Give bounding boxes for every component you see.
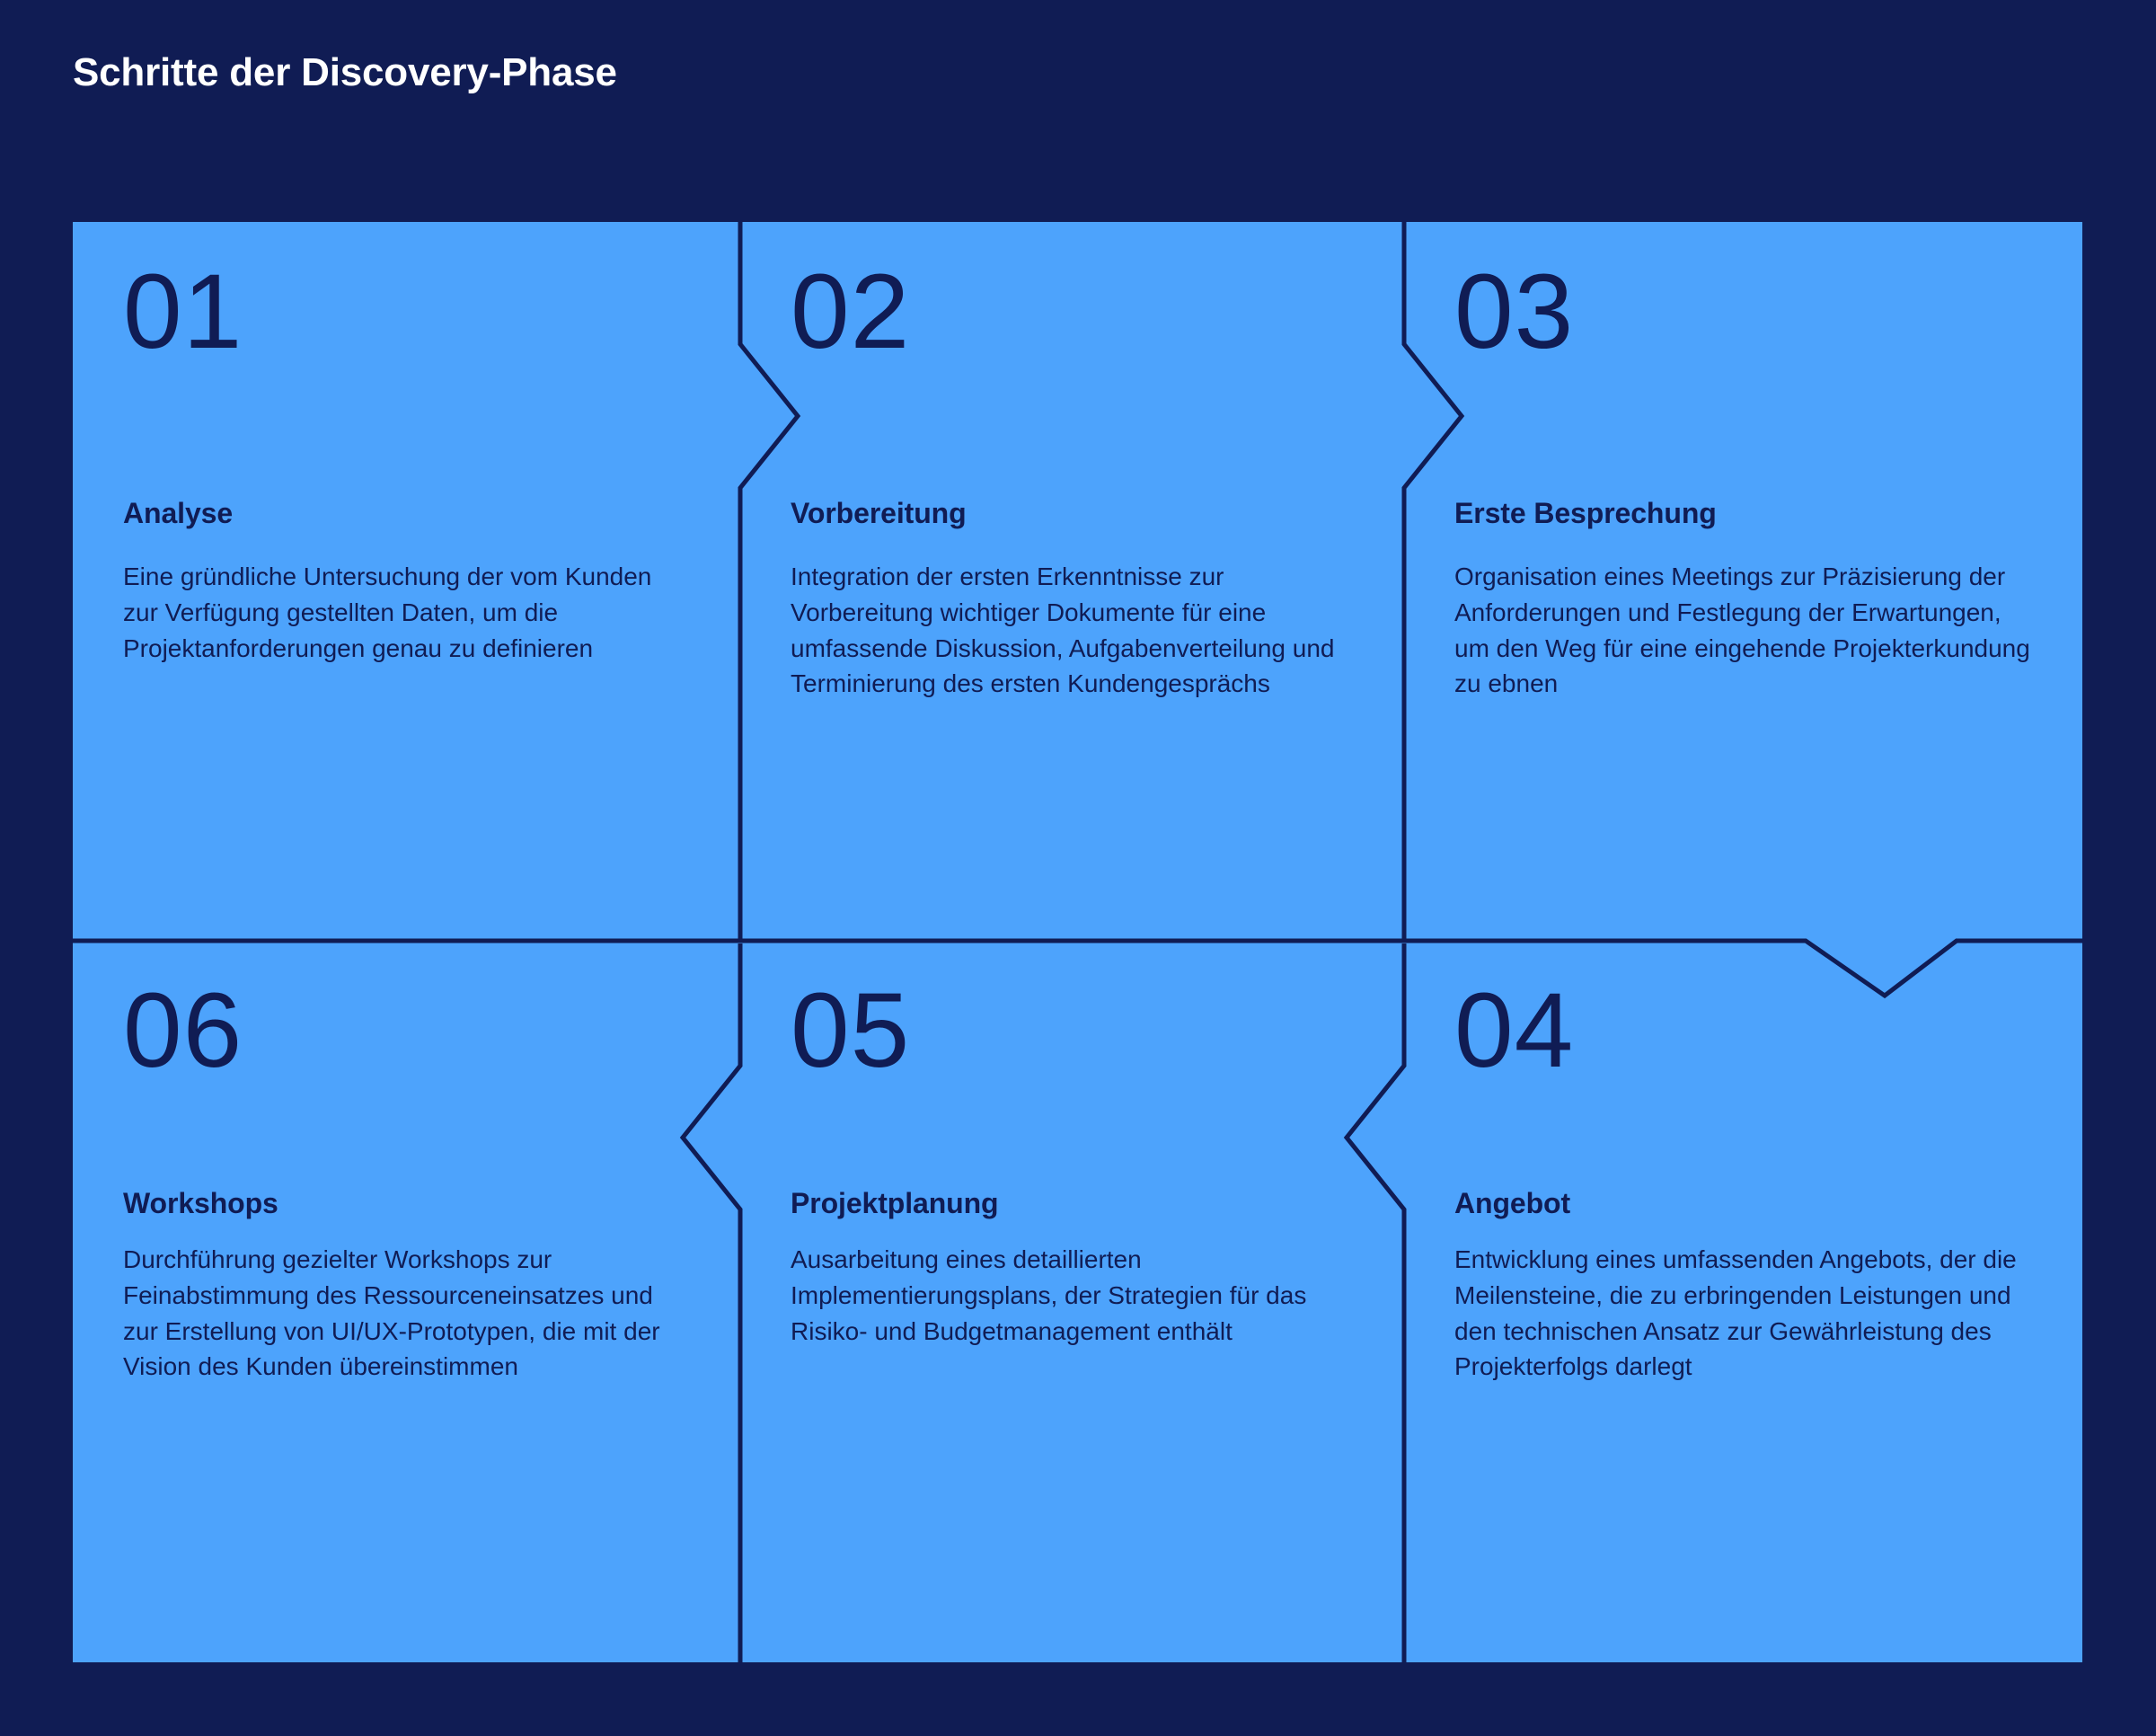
step-number: 03 — [1454, 261, 2032, 362]
step-description: Organisation eines Meetings zur Präzisie… — [1454, 559, 2032, 702]
step-number: 02 — [791, 261, 1354, 362]
step-card-01: 01 Analyse Eine gründliche Untersuchung … — [73, 222, 740, 941]
step-title: Analyse — [123, 497, 690, 530]
step-title: Vorbereitung — [791, 497, 1354, 530]
spacer — [791, 1081, 1354, 1187]
spacer — [791, 530, 1354, 559]
page-title: Schritte der Discovery-Phase — [73, 50, 617, 95]
step-description: Entwicklung eines umfassenden Angebots, … — [1454, 1242, 2032, 1385]
step-card-02: 02 Vorbereitung Integration der ersten E… — [740, 222, 1404, 941]
step-card-04: 04 Angebot Entwicklung eines umfassenden… — [1404, 941, 2082, 1662]
steps-grid: 01 Analyse Eine gründliche Untersuchung … — [73, 222, 2082, 1662]
spacer — [1454, 1220, 2032, 1242]
step-description: Integration der ersten Erkenntnisse zur … — [791, 559, 1354, 702]
step-card-06: 06 Workshops Durchführung gezielter Work… — [73, 941, 740, 1662]
step-description: Ausarbeitung eines detaillierten Impleme… — [791, 1242, 1354, 1349]
spacer — [123, 362, 690, 497]
spacer — [1454, 1081, 2032, 1187]
step-number: 01 — [123, 261, 690, 362]
step-number: 04 — [1454, 980, 2032, 1081]
spacer — [1454, 530, 2032, 559]
step-card-05: 05 Projektplanung Ausarbeitung eines det… — [740, 941, 1404, 1662]
step-title: Workshops — [123, 1187, 690, 1220]
step-title: Angebot — [1454, 1187, 2032, 1220]
step-title: Projektplanung — [791, 1187, 1354, 1220]
spacer — [123, 1220, 690, 1242]
step-number: 05 — [791, 980, 1354, 1081]
step-number: 06 — [123, 980, 690, 1081]
spacer — [1454, 362, 2032, 497]
step-title: Erste Besprechung — [1454, 497, 2032, 530]
steps-panel: 01 Analyse Eine gründliche Untersuchung … — [73, 222, 2082, 1662]
step-card-03: 03 Erste Besprechung Organisation eines … — [1404, 222, 2082, 941]
step-description: Eine gründliche Untersuchung der vom Kun… — [123, 559, 690, 666]
step-description: Durchführung gezielter Workshops zur Fei… — [123, 1242, 690, 1385]
spacer — [791, 1220, 1354, 1242]
spacer — [123, 1081, 690, 1187]
spacer — [791, 362, 1354, 497]
spacer — [123, 530, 690, 559]
